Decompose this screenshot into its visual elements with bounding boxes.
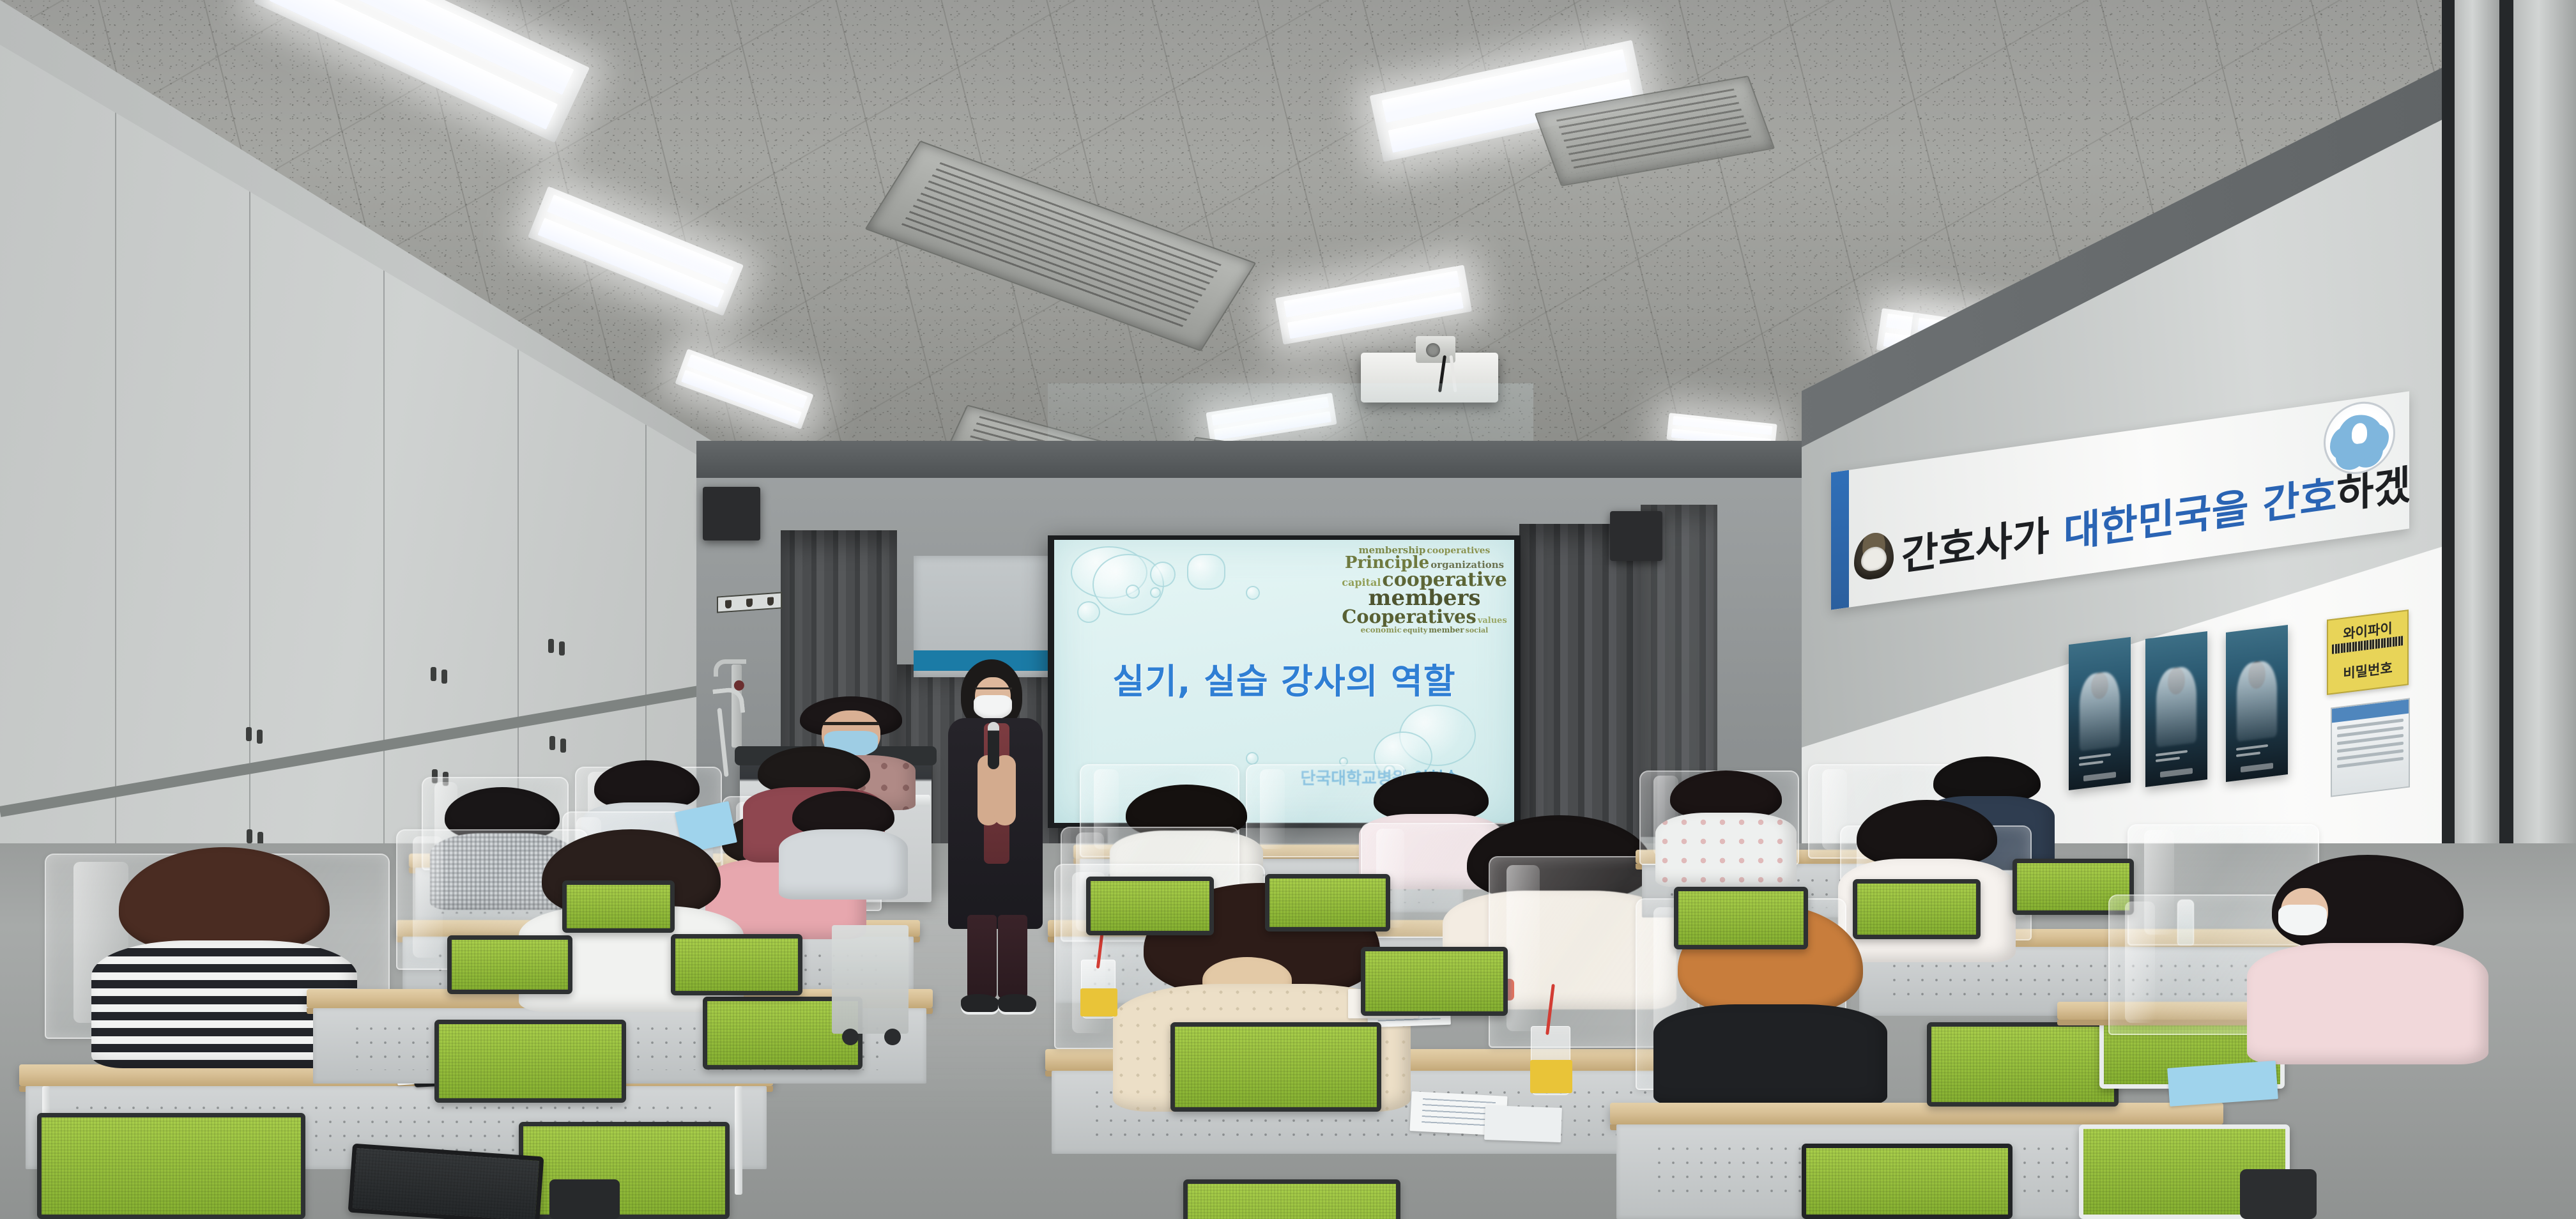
cabinet-handle[interactable] — [559, 641, 565, 655]
exit-icon-3 — [767, 597, 774, 606]
decor-bubble — [1246, 752, 1259, 765]
desk — [1610, 1103, 2223, 1124]
hair — [594, 760, 700, 809]
chair[interactable] — [1086, 877, 1214, 935]
iced-coffee-cup[interactable] — [1531, 1026, 1570, 1095]
glasses-icon — [823, 722, 879, 731]
decor-bubble — [1150, 587, 1161, 598]
chair[interactable] — [562, 880, 675, 933]
attendee — [119, 847, 330, 1064]
torso — [1655, 813, 1797, 887]
exit-icon-2 — [746, 598, 753, 607]
hair — [1857, 800, 1997, 866]
banner-seg-1: 간호사가 — [1901, 510, 2064, 579]
chair[interactable] — [1802, 1144, 2012, 1219]
floor-bag[interactable] — [549, 1179, 620, 1219]
chair[interactable] — [1361, 947, 1508, 1016]
nurse-poster-2 — [2145, 631, 2207, 787]
handheld-microphone[interactable] — [988, 722, 999, 769]
chair[interactable] — [348, 1144, 544, 1219]
hair — [119, 847, 330, 952]
chair[interactable] — [671, 934, 802, 995]
attendee — [2272, 855, 2464, 1059]
chair[interactable] — [1183, 1179, 1400, 1219]
hair — [758, 746, 870, 793]
hair — [1374, 772, 1489, 820]
banner-side-strip — [1831, 470, 1849, 610]
wall-info-board — [2331, 698, 2410, 797]
cart-wheel — [884, 1029, 901, 1045]
ceiling-projector — [1361, 353, 1498, 402]
wordcloud-term: economic — [1361, 627, 1402, 634]
banner-seg-2: 대한민국을 — [2064, 482, 2263, 557]
presenter-leg-left — [967, 915, 997, 998]
cabinet-handle[interactable] — [257, 730, 263, 744]
torso — [779, 829, 908, 900]
decor-bubble — [1126, 585, 1140, 599]
cabinet-handle[interactable] — [441, 670, 447, 684]
nurse-poster-3 — [2226, 625, 2288, 782]
projector-cable — [1449, 355, 1457, 392]
chair[interactable] — [1853, 879, 1981, 939]
wordcloud-term: member — [1429, 627, 1464, 634]
slide-title: 실기, 실습 강사의 역할 — [1054, 653, 1514, 703]
chair[interactable] — [37, 1113, 305, 1219]
desk-leg — [735, 1086, 742, 1195]
cabinet-handle[interactable] — [431, 667, 436, 681]
back-wall-beam — [696, 441, 1821, 478]
cart-wheel — [842, 1029, 859, 1045]
wall-speaker — [703, 487, 760, 540]
exit-icon-1 — [725, 599, 732, 608]
chair[interactable] — [1674, 887, 1808, 949]
equipment-cart — [832, 925, 908, 1034]
decor-bubble — [1150, 562, 1176, 587]
decor-bubble — [1246, 586, 1260, 600]
wall-speaker — [1610, 511, 1662, 561]
wordcloud-term: equity — [1403, 627, 1427, 634]
attendee — [1670, 770, 1782, 885]
slide-wordcloud: membershipcooperativesPrincipleorganizat… — [1340, 546, 1509, 641]
face-mask — [974, 695, 1012, 719]
floor-bag[interactable] — [2240, 1169, 2317, 1219]
wifi-password-label: 비밀번호 — [2328, 655, 2407, 684]
wifi-info-sign: 와이파이 비밀번호 — [2327, 609, 2409, 695]
cabinet-seam — [115, 57, 116, 907]
handout-paper[interactable] — [2167, 1061, 2278, 1107]
cabinet-handle[interactable] — [549, 736, 555, 750]
wordcloud-term: social — [1466, 627, 1489, 634]
presenter — [944, 659, 1046, 1017]
decor-bubble — [1092, 554, 1164, 615]
notebook[interactable] — [1484, 1105, 1562, 1142]
decor-bubble — [1187, 554, 1225, 590]
wordcloud-term: values — [1478, 617, 1507, 625]
cabinet-handle[interactable] — [560, 739, 566, 753]
decor-bubble — [1077, 601, 1100, 623]
cabinet-handle[interactable] — [548, 639, 554, 653]
chair white-frame[interactable] — [1927, 1022, 2119, 1107]
national-emblem-icon — [1854, 530, 1894, 582]
banner-seg-3: 간호 — [2263, 471, 2337, 528]
lecture-room-photo: membershipcooperativesPrincipleorganizat… — [0, 0, 2576, 1219]
face-mask — [2278, 905, 2327, 935]
torso — [2247, 943, 2488, 1064]
cabinet-handle[interactable] — [247, 829, 252, 843]
hair — [1670, 770, 1782, 819]
torso — [1653, 1004, 1887, 1107]
presenter-shoe-left — [961, 994, 999, 1012]
presenter-shoe-right — [998, 994, 1036, 1012]
cabinet-seam — [383, 198, 385, 926]
cabinet-handle[interactable] — [246, 727, 252, 741]
chair[interactable] — [1170, 1022, 1381, 1112]
nurse-poster-1 — [2069, 637, 2131, 790]
presenter-leg-right — [998, 915, 1027, 998]
wordcloud-term: cooperatives — [1427, 547, 1490, 555]
wordcloud-term: Cooperatives — [1342, 608, 1476, 625]
attendee — [792, 791, 894, 898]
chair[interactable] — [1265, 874, 1390, 931]
chair[interactable] — [434, 1020, 626, 1103]
cabinet-seam — [249, 128, 250, 920]
chair[interactable] — [447, 935, 572, 994]
